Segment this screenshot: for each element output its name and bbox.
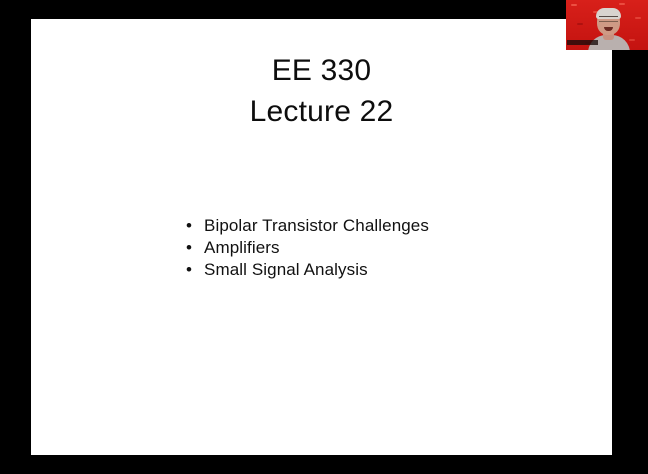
bullet-dot-icon: • (186, 215, 192, 237)
bullet-item-label: Small Signal Analysis (204, 260, 368, 279)
video-player-canvas: EE 330 Lecture 22 • Bipolar Transistor C… (0, 0, 648, 474)
presentation-slide: EE 330 Lecture 22 • Bipolar Transistor C… (31, 19, 612, 455)
slide-title-line-1: EE 330 (31, 50, 612, 91)
webcam-overlay[interactable] (566, 0, 648, 50)
bullet-dot-icon: • (186, 237, 192, 259)
bullet-dot-icon: • (186, 259, 192, 281)
glasses-icon (599, 16, 618, 22)
bullet-item: • Small Signal Analysis (186, 259, 606, 281)
presenter-name-bar (567, 40, 598, 45)
slide-title-line-2: Lecture 22 (31, 91, 612, 132)
slide-title: EE 330 Lecture 22 (31, 50, 612, 132)
bullet-item-label: Amplifiers (204, 238, 280, 257)
slide-bullet-list: • Bipolar Transistor Challenges • Amplif… (186, 215, 606, 281)
bullet-item-label: Bipolar Transistor Challenges (204, 216, 429, 235)
bullet-item: • Bipolar Transistor Challenges (186, 215, 606, 237)
bullet-item: • Amplifiers (186, 237, 606, 259)
